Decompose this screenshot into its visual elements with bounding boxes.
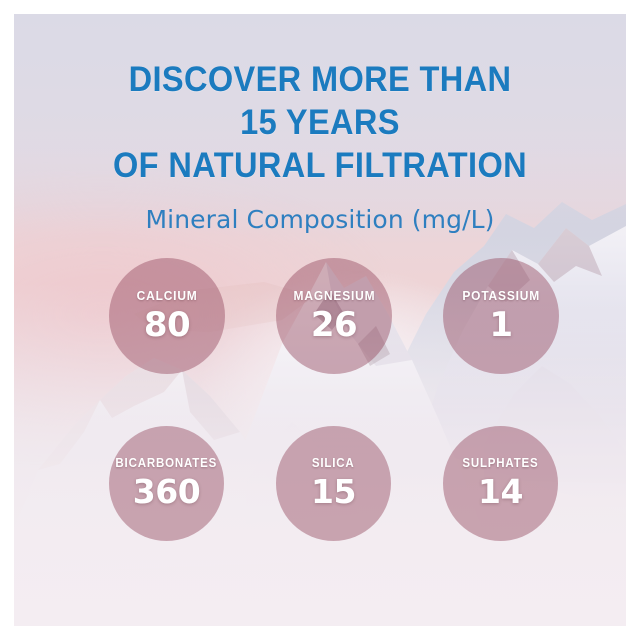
image-panel: DISCOVER MORE THAN 15 YEARS OF NATURAL F… xyxy=(14,14,626,626)
mineral-label: CALCIUM xyxy=(137,289,198,303)
subtitle: Mineral Composition (mg/L) xyxy=(14,205,626,234)
mineral-bubble-calcium: CALCIUM 80 xyxy=(109,258,225,374)
mineral-label: POTASSIUM xyxy=(462,289,540,303)
headline-line-2: 15 YEARS xyxy=(35,101,604,144)
mineral-bubble-magnesium: MAGNESIUM 26 xyxy=(276,258,392,374)
mineral-value: 15 xyxy=(311,473,356,511)
infographic-canvas: DISCOVER MORE THAN 15 YEARS OF NATURAL F… xyxy=(0,0,640,640)
headline-line-3: OF NATURAL FILTRATION xyxy=(35,144,604,187)
mineral-label: SILICA xyxy=(312,456,355,470)
mineral-bubble-potassium: POTASSIUM 1 xyxy=(443,258,559,374)
mineral-value: 26 xyxy=(311,306,357,344)
mineral-label: SULPHATES xyxy=(462,456,538,470)
page-title: DISCOVER MORE THAN 15 YEARS OF NATURAL F… xyxy=(35,58,604,187)
mineral-bubble-bicarbonates: BICARBONATES 360 xyxy=(109,426,224,541)
mineral-label: BICARBONATES xyxy=(116,456,218,470)
mineral-label: MAGNESIUM xyxy=(293,289,375,303)
mineral-value: 80 xyxy=(144,306,190,344)
mineral-value: 360 xyxy=(133,473,200,511)
mineral-value: 14 xyxy=(478,473,523,511)
mineral-value: 1 xyxy=(489,306,512,344)
headline-line-1: DISCOVER MORE THAN xyxy=(35,58,604,101)
mineral-bubble-sulphates: SULPHATES 14 xyxy=(443,426,558,541)
mineral-bubble-silica: SILICA 15 xyxy=(276,426,391,541)
